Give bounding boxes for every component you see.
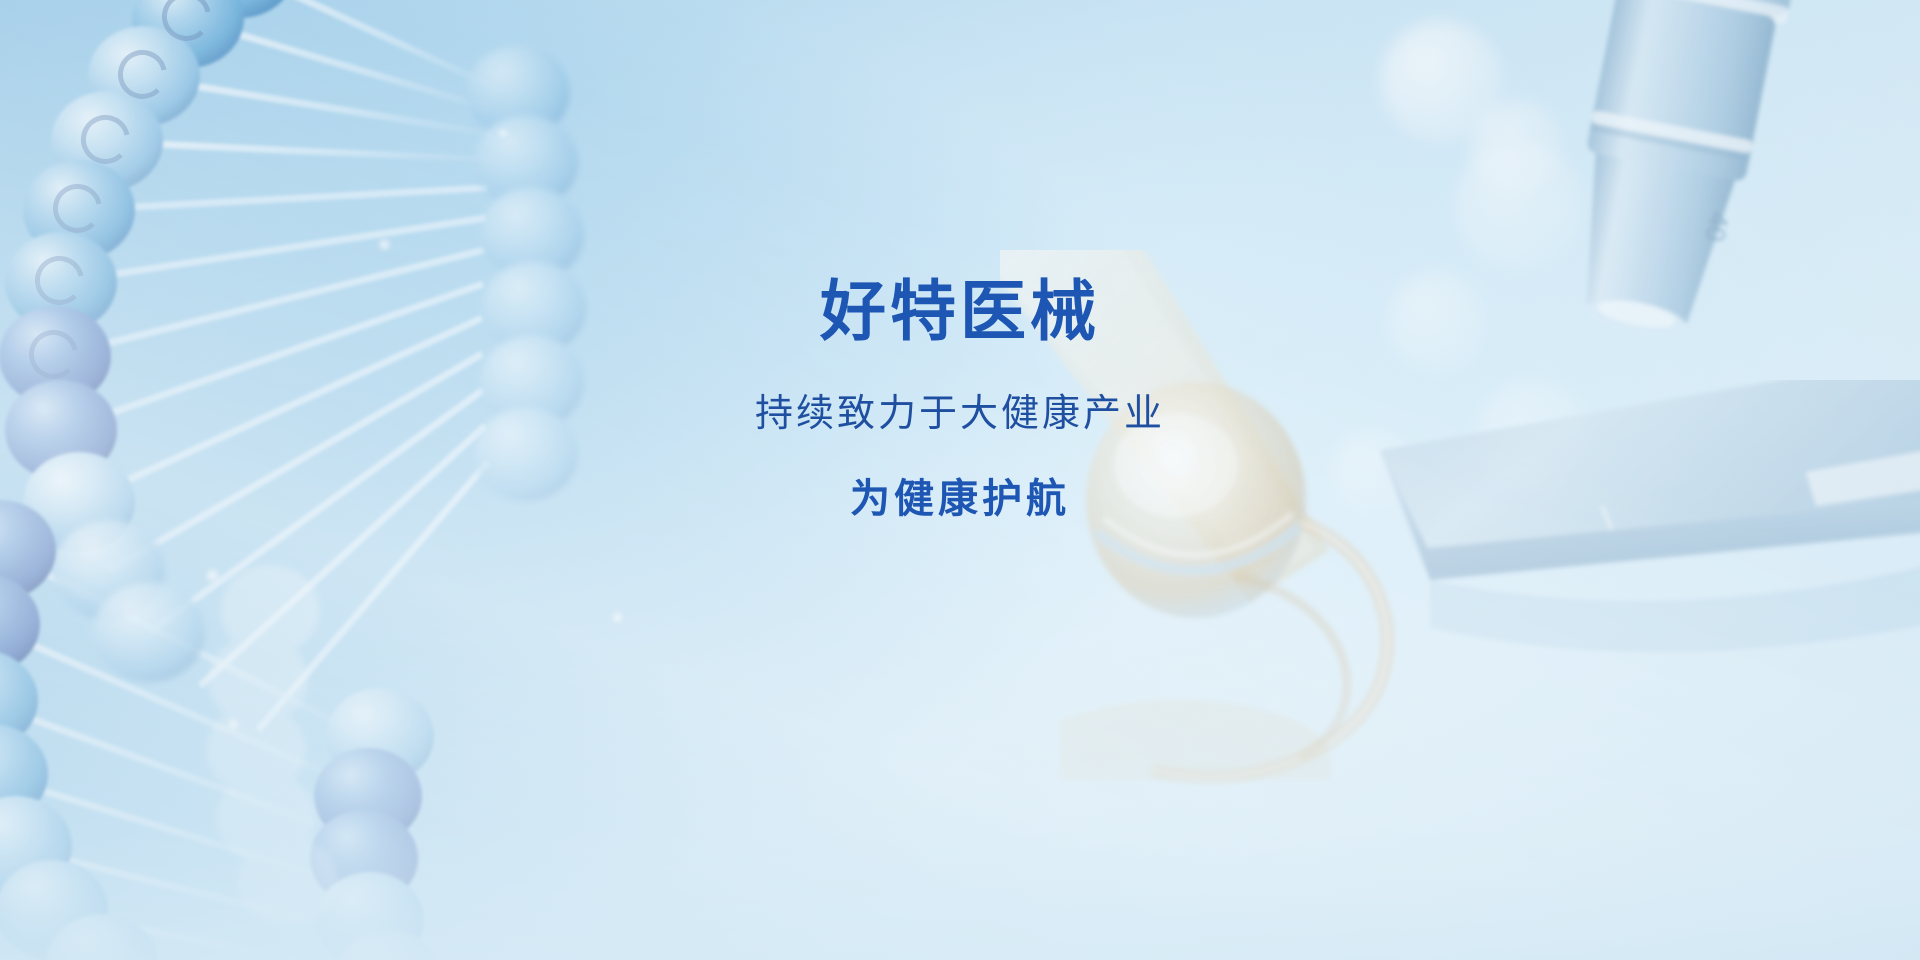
tagline-primary: 持续致力于大健康产业 (0, 392, 1920, 438)
tagline-secondary: 为健康护航 (0, 475, 1920, 523)
hero-banner: 40 (0, 0, 1920, 960)
hero-copy: 好特医械 持续致力于大健康产业 为健康护航 (0, 275, 1920, 523)
page-title: 好特医械 (0, 275, 1920, 348)
